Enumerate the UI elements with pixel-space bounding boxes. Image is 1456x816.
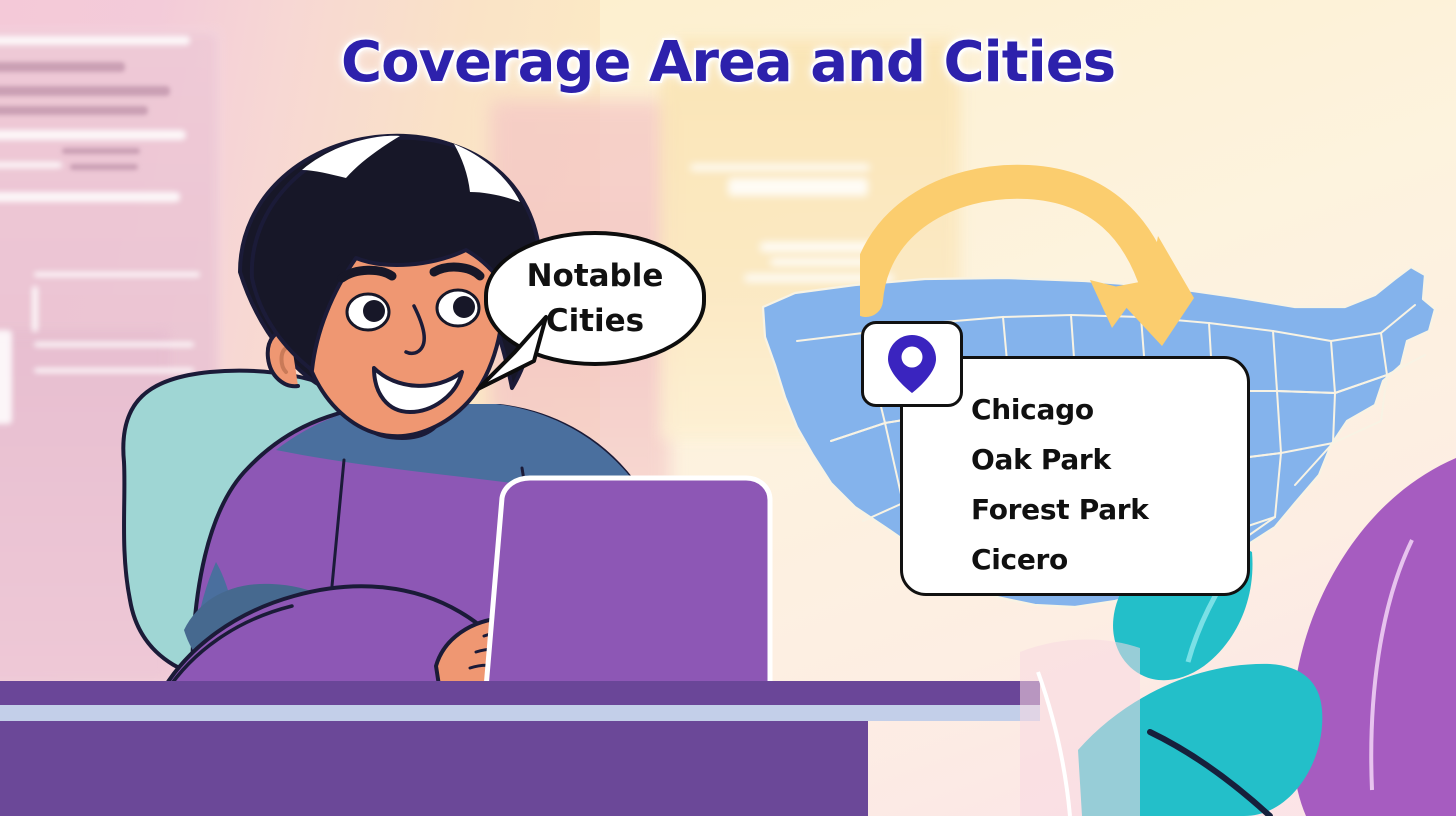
city-list-item: Cicero (971, 535, 1247, 585)
speech-bubble-line-2: Cities (527, 299, 664, 344)
laptop-icon (486, 478, 770, 688)
city-list-item: Chicago (971, 385, 1247, 435)
page-title: Coverage Area and Cities (0, 30, 1456, 95)
speech-bubble: Notable Cities (484, 231, 706, 366)
background-line (0, 330, 12, 424)
slide-canvas: Coverage Area and Cities Notable Cities … (0, 0, 1456, 816)
city-list-item: Forest Park (971, 485, 1247, 535)
map-pin-badge (861, 321, 963, 407)
background-line (32, 286, 38, 332)
background-line (0, 162, 62, 168)
desk-edge-strip (0, 705, 1040, 721)
speech-bubble-line-1: Notable (527, 254, 664, 299)
person-at-laptop-illustration (80, 100, 820, 720)
desk-front (0, 718, 868, 816)
map-pin-icon (886, 333, 938, 395)
city-list-item: Oak Park (971, 435, 1247, 485)
